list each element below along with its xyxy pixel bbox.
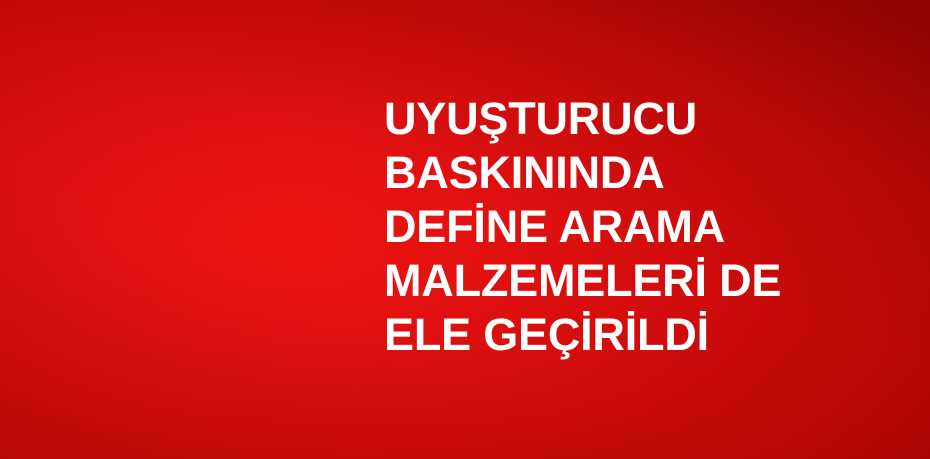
headline-line-5: ELE GEÇİRİLDİ [384, 308, 804, 362]
headline-line-1: UYUŞTURUCU [384, 92, 804, 146]
headline-line-2: BASKININDA [384, 146, 804, 200]
headline-line-3: DEFİNE ARAMA [384, 200, 804, 254]
headline-line-4: MALZEMELERİ DE [384, 254, 804, 308]
headline: UYUŞTURUCU BASKININDA DEFİNE ARAMA MALZE… [384, 92, 804, 362]
news-headline-card: UYUŞTURUCU BASKININDA DEFİNE ARAMA MALZE… [0, 0, 930, 459]
